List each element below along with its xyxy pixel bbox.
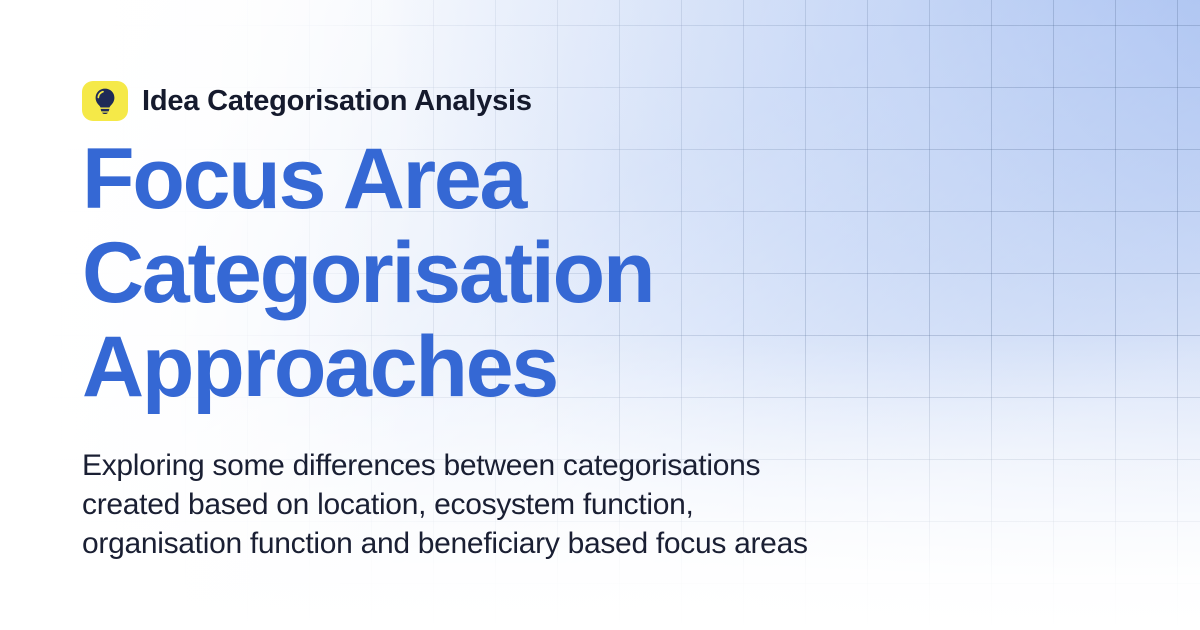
hero-card: Idea Categorisation Analysis Focus Area … (0, 0, 1200, 630)
content-block: Idea Categorisation Analysis Focus Area … (82, 78, 1140, 563)
kicker-row: Idea Categorisation Analysis (82, 78, 1140, 124)
kicker-label: Idea Categorisation Analysis (142, 85, 532, 118)
lightbulb-badge (82, 81, 128, 121)
lightbulb-icon (94, 88, 116, 114)
page-title: Focus Area Categorisation Approaches (82, 132, 782, 414)
page-subtitle: Exploring some differences between categ… (82, 446, 822, 563)
